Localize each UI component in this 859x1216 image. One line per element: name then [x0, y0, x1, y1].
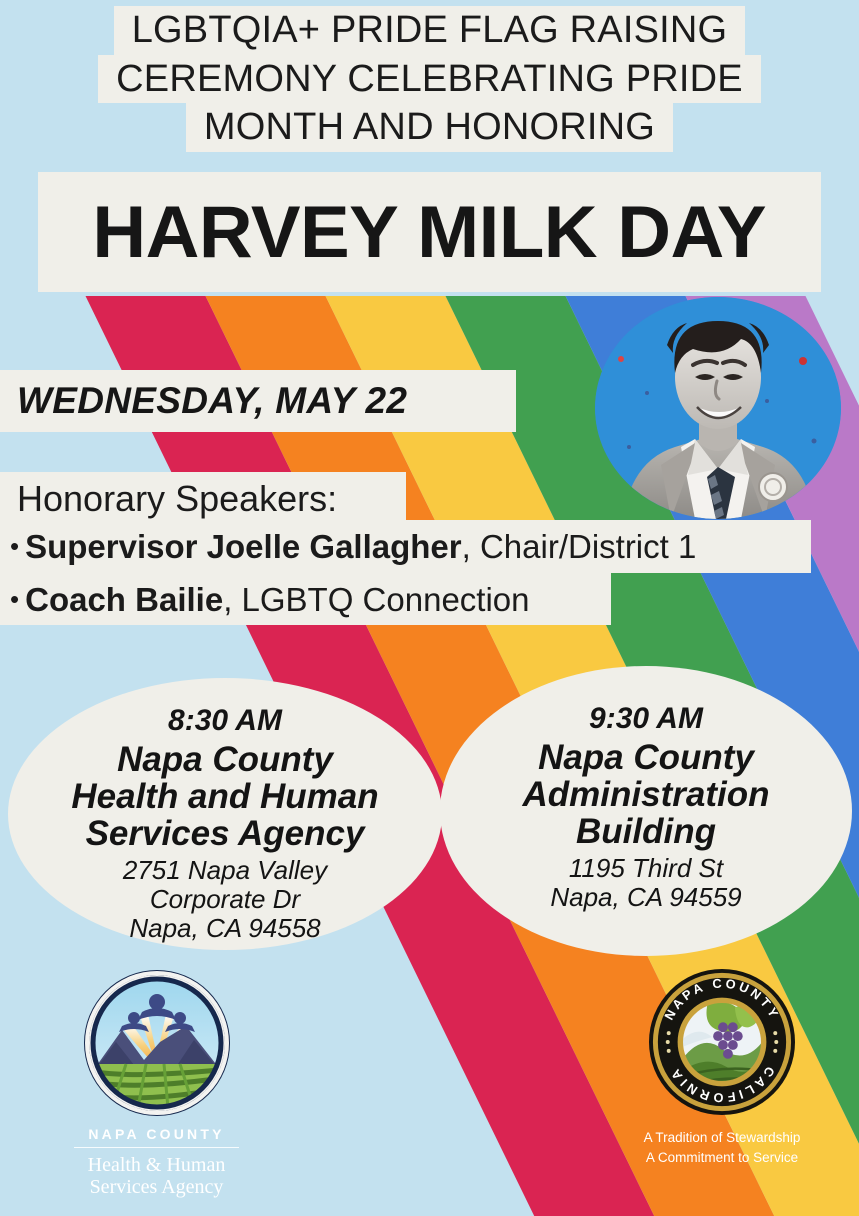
speaker-role-2: , LGBTQ Connection: [223, 581, 529, 618]
hhsa-line-3: Services Agency: [74, 1176, 239, 1198]
location-2-address: 1195 Third St Napa, CA 94559: [440, 854, 852, 912]
hhsa-line-1: NAPA COUNTY: [74, 1126, 239, 1148]
seal-tagline-1: A Tradition of Stewardship: [632, 1128, 812, 1148]
bullet-icon: •: [10, 584, 25, 614]
speaker-name-2: Coach Bailie: [25, 581, 223, 618]
location-2-name: Napa County Administration Building: [440, 739, 852, 850]
kicker-line-3: MONTH AND HONORING: [186, 103, 673, 152]
kicker-line-1: LGBTQIA+ PRIDE FLAG RAISING: [114, 6, 746, 55]
event-date: WEDNESDAY, MAY 22: [0, 380, 407, 422]
bullet-icon: •: [10, 531, 25, 561]
location-2-time: 9:30 AM: [440, 702, 852, 737]
speaker-name-1: Supervisor Joelle Gallagher: [25, 528, 462, 565]
speaker-list-item-1: •Supervisor Joelle Gallagher, Chair/Dist…: [10, 528, 696, 566]
event-date-banner: WEDNESDAY, MAY 22: [0, 370, 516, 432]
location-1-address: 2751 Napa Valley Corporate Dr Napa, CA 9…: [8, 856, 442, 943]
poster-headline-block: LGBTQIA+ PRIDE FLAG RAISING CEREMONY CEL…: [0, 0, 859, 152]
harvey-milk-portrait: [595, 297, 841, 519]
napa-hhsa-seal-icon: [82, 968, 232, 1118]
seal-tagline-2: A Commitment to Service: [632, 1148, 812, 1168]
location-1-time: 8:30 AM: [8, 704, 442, 739]
location-card-2: 9:30 AM Napa County Administration Build…: [440, 666, 852, 956]
page-title: HARVEY MILK DAY: [93, 191, 767, 274]
pride-flag-raising-poster: LGBTQIA+ PRIDE FLAG RAISING CEREMONY CEL…: [0, 0, 859, 1216]
location-1-name: Napa County Health and Human Services Ag…: [8, 741, 442, 852]
portrait-illustration: [595, 297, 841, 519]
speaker-role-1: , Chair/District 1: [462, 528, 697, 565]
napa-county-seal-logo: NAPA COUNTY CALIFORNIA A Tradition of St…: [632, 968, 812, 1167]
hhsa-line-2: Health & Human: [74, 1154, 239, 1176]
kicker-line-2: CEREMONY CELEBRATING PRIDE: [98, 55, 761, 104]
napa-county-hhsa-logo: NAPA COUNTY Health & Human Services Agen…: [74, 968, 239, 1199]
headline-banner: HARVEY MILK DAY: [38, 172, 821, 292]
speaker-list-item-2: •Coach Bailie, LGBTQ Connection: [10, 581, 530, 619]
speakers-heading: Honorary Speakers:: [17, 478, 337, 520]
location-card-1: 8:30 AM Napa County Health and Human Ser…: [8, 678, 442, 950]
napa-county-california-seal-icon: NAPA COUNTY CALIFORNIA: [648, 968, 796, 1116]
